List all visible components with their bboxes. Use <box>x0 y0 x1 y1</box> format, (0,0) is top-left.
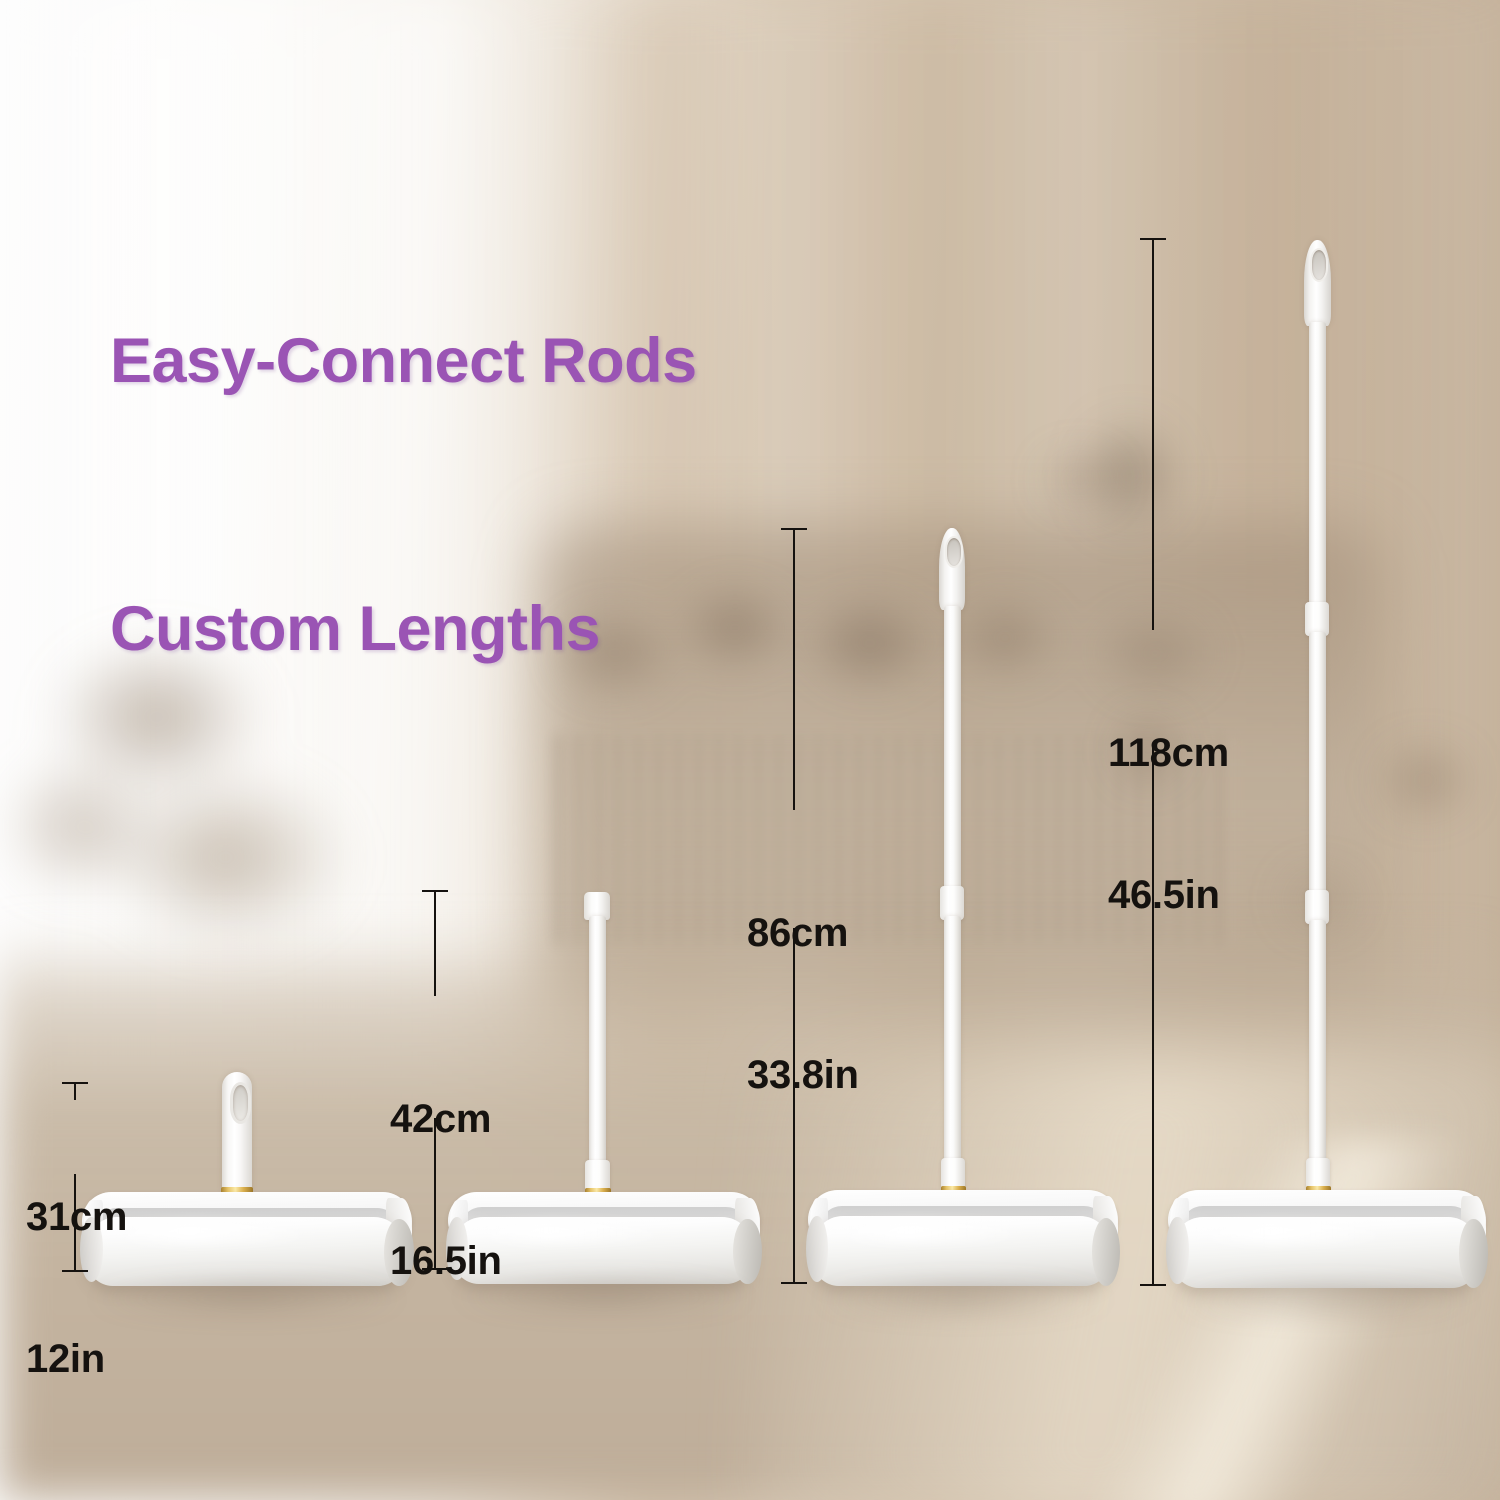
dimension-label-86cm: 86cm 33.8in <box>747 816 859 1194</box>
headline-line-1: Easy-Connect Rods <box>110 317 697 406</box>
dimension-value-in: 33.8in <box>747 1052 859 1099</box>
dimension-value-cm: 42cm <box>390 1096 502 1143</box>
hang-hole-icon <box>945 536 963 568</box>
dimension-tick-bottom <box>781 1282 807 1284</box>
rod-joint-collar <box>940 886 964 920</box>
roller-endcap-right <box>733 1219 761 1284</box>
extension-rod-lower <box>944 916 961 1164</box>
dimension-value-cm: 118cm <box>1108 730 1229 777</box>
dimension-tick-bottom <box>1140 1284 1166 1286</box>
dimension-value-in: 16.5in <box>390 1238 502 1285</box>
floor-shadow <box>817 1282 1108 1316</box>
dimension-value-in: 12in <box>26 1336 127 1383</box>
roller-head <box>808 1190 1118 1290</box>
roller-highlight <box>820 1222 1037 1242</box>
extension-rod <box>589 916 606 1171</box>
floor-shadow <box>1178 1284 1477 1319</box>
roller-endcap-right <box>1092 1218 1120 1286</box>
roller-head <box>1168 1190 1486 1292</box>
extension-rod-upper <box>944 606 961 896</box>
headline: Easy-Connect Rods Custom Lengths <box>110 138 697 854</box>
roller-endcap-left <box>1166 1217 1188 1284</box>
rod-joint-collar-upper <box>1305 602 1329 636</box>
roller-highlight <box>95 1223 326 1243</box>
dimension-line-upper <box>74 1082 76 1100</box>
rod-joint-collar-lower <box>1305 890 1329 924</box>
dimension-line-upper <box>1152 238 1154 630</box>
extension-rod-lower <box>1309 920 1326 1164</box>
dimension-line-upper <box>434 890 436 996</box>
product-roller-short-handle <box>82 1060 412 1290</box>
roller-head <box>82 1192 412 1290</box>
product-feature-image: Easy-Connect Rods Custom Lengths <box>0 0 1500 1500</box>
floor-shadow <box>92 1282 402 1315</box>
hang-hole-icon <box>230 1082 251 1124</box>
roller-endcap-right <box>1459 1219 1488 1288</box>
hang-hole-icon <box>1310 248 1328 282</box>
dimension-line-upper <box>793 528 795 810</box>
extension-rod-middle <box>1309 632 1326 898</box>
dimension-label-31cm: 31cm 12in <box>26 1100 127 1478</box>
dimension-label-42cm: 42cm 16.5in <box>390 1002 502 1380</box>
background-wall-art <box>1080 420 1180 530</box>
extension-rod-upper <box>1309 322 1326 610</box>
headline-line-2: Custom Lengths <box>110 585 697 674</box>
dimension-value-cm: 86cm <box>747 910 859 957</box>
roller-highlight <box>1181 1223 1404 1243</box>
roller-endcap-left <box>806 1216 828 1282</box>
dimension-label-118cm: 118cm 46.5in <box>1108 636 1229 1014</box>
dimension-value-cm: 31cm <box>26 1194 127 1241</box>
dimension-value-in: 46.5in <box>1108 872 1229 919</box>
